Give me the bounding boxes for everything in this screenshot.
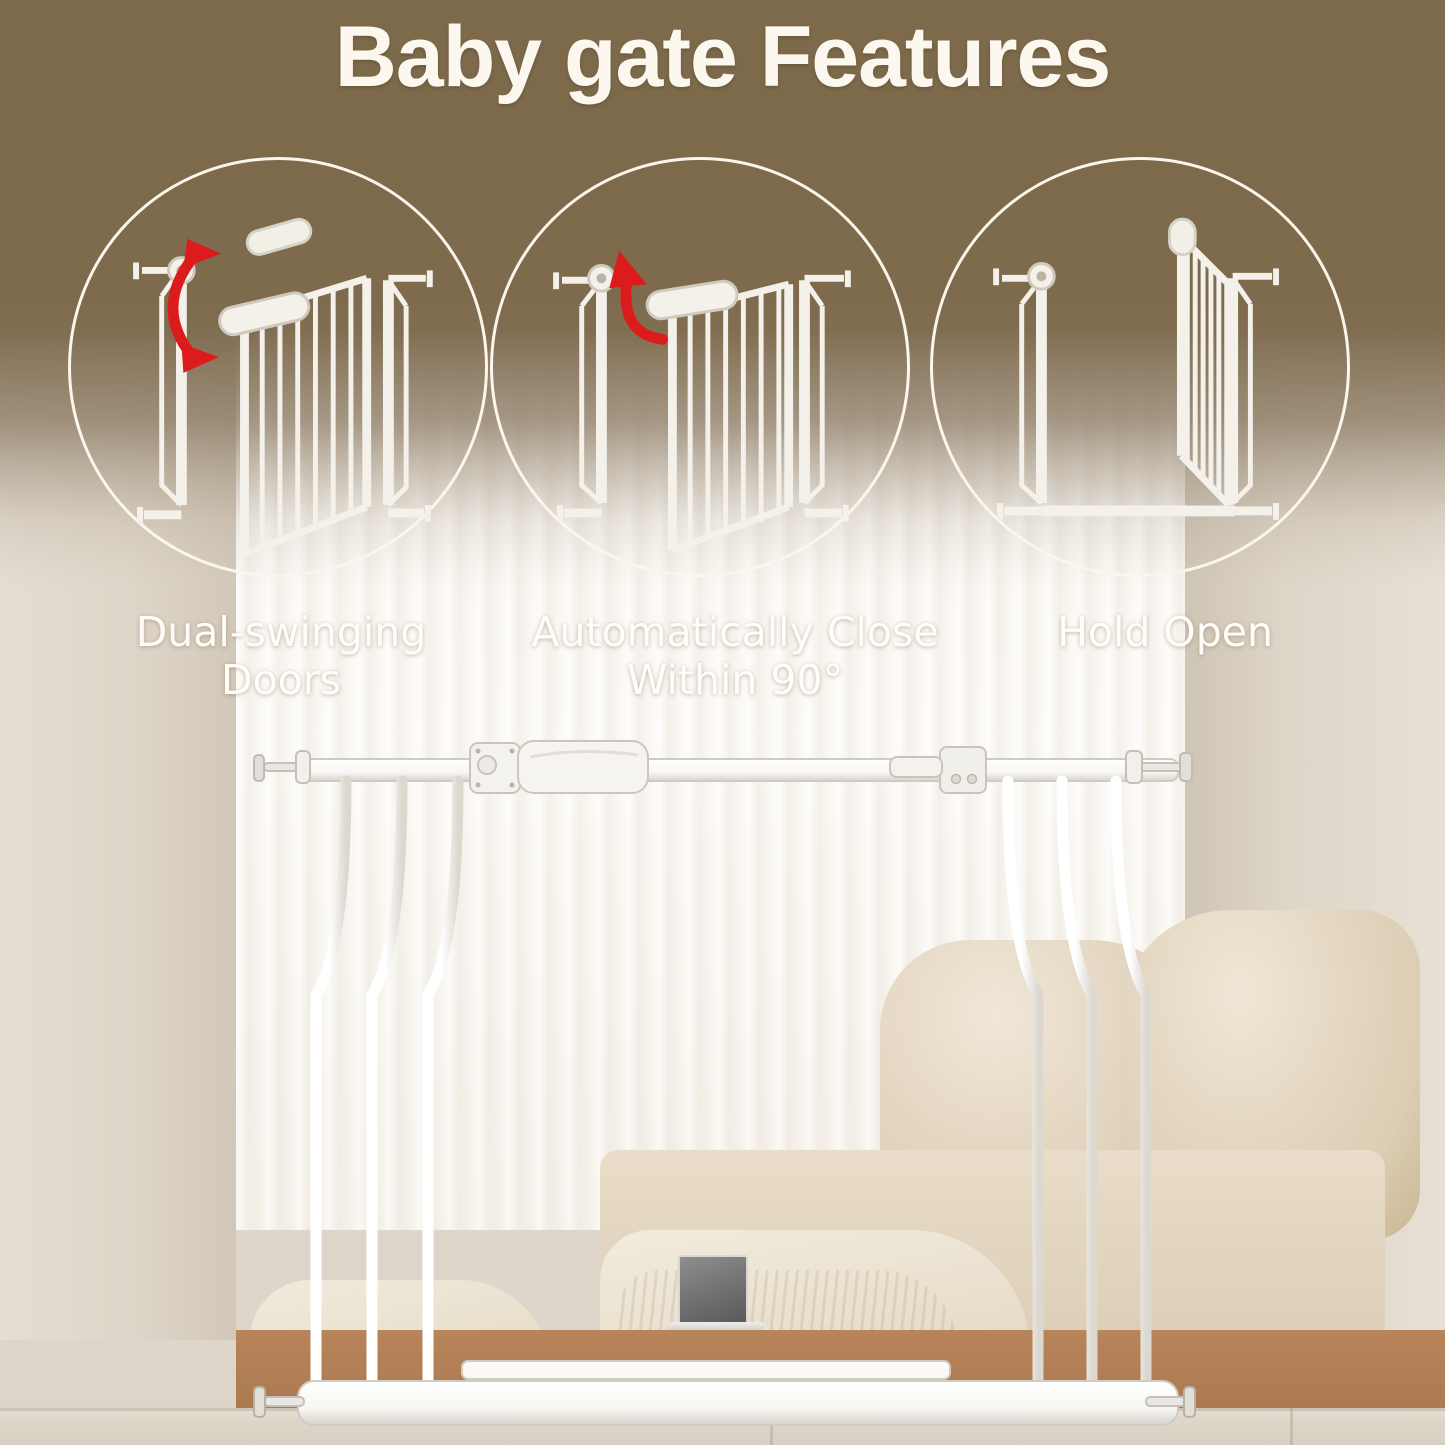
gate-bars-center xyxy=(518,781,896,1387)
bottom-bolt-left xyxy=(254,1387,304,1417)
feature-circle-dual-swinging-doors xyxy=(68,157,488,577)
caption-line-1: Dual-swinging xyxy=(86,608,476,656)
feature-caption-hold-open: Hold Open xyxy=(1000,608,1330,656)
feature-caption-automatically-close: Automatically Close Within 90° xyxy=(480,608,990,705)
door-bottom-rail xyxy=(462,1361,950,1379)
infographic-canvas: Baby gate Features xyxy=(0,0,1445,1445)
gate-illustration-auto-close xyxy=(556,265,848,550)
feature-circle-automatically-close xyxy=(490,157,910,577)
tile-seam xyxy=(1290,1408,1293,1445)
caption-line-2: Within 90° xyxy=(480,656,990,704)
gate-bars-right xyxy=(1008,781,1146,1387)
gate-bottom-rail xyxy=(298,1381,1178,1425)
product-photo-baby-gate xyxy=(250,735,1200,1435)
gate-illustration-hold-open xyxy=(996,219,1276,520)
feature-caption-dual-swinging-doors: Dual-swinging Doors xyxy=(86,608,476,705)
feature-circle-hold-open xyxy=(930,157,1350,577)
caption-line-1: Hold Open xyxy=(1000,608,1330,656)
pressure-mount-bolt-left xyxy=(254,751,310,783)
gate-bars-left xyxy=(316,781,458,1387)
latch-bracket[interactable] xyxy=(890,747,986,793)
caption-line-2: Doors xyxy=(86,656,476,704)
caption-line-1: Automatically Close xyxy=(480,608,990,656)
page-title: Baby gate Features xyxy=(0,14,1445,100)
